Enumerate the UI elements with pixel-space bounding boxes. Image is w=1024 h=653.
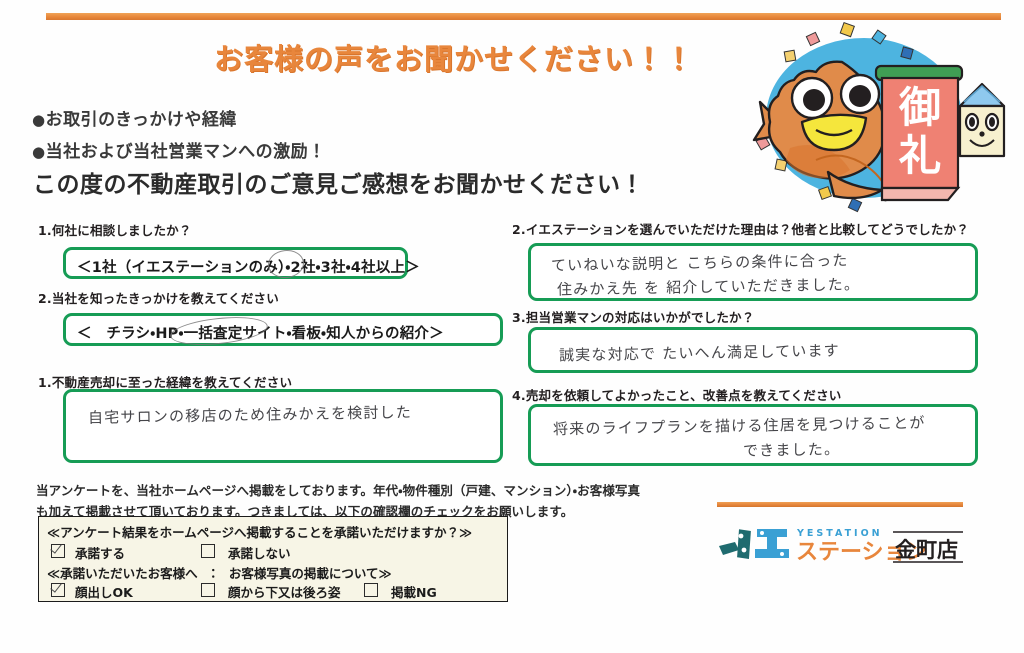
- consent-label-kaodashi-ok[interactable]: 顔出しOK: [75, 582, 133, 601]
- svg-text:礼: 礼: [898, 131, 941, 180]
- left-q2-options-box[interactable]: ＜ チラシ・HP・一括査定サイト・看板・知人からの紹介＞: [63, 313, 503, 346]
- consent-label-kao-kara-shita[interactable]: 顔から下又は後ろ姿: [228, 582, 341, 601]
- left-q1-options-box[interactable]: ＜1社（イエステーションのみ）・2社・3社・4社以上＞: [63, 247, 408, 279]
- list-item: ●当社および当社営業マンへの激励！: [32, 136, 326, 168]
- consent-heading-1: ≪アンケート結果をホームページへ掲載することを承諾いただけますか？≫: [47, 522, 472, 541]
- consent-checkbox-kaodashi-ok[interactable]: [51, 583, 65, 597]
- consent-checkbox-kao-kara-shita[interactable]: [201, 583, 215, 597]
- left-q2-label: 2.当社を知ったきっかけを教えてください: [38, 288, 279, 307]
- bullet-text: 当社および当社営業マンへの激励！: [46, 142, 326, 162]
- logo-romaji: YESTATION: [796, 528, 883, 539]
- bullet-dot-icon: ●: [32, 111, 46, 129]
- sea-bream-mascot-icon: 御 礼: [724, 18, 1010, 218]
- bullet-dot-icon: ●: [32, 143, 46, 161]
- right-q2-label: 3.担当営業マンの対応はいかがでしたか？: [512, 307, 754, 326]
- yestation-logo: YESTATION ステーション 金町店: [717, 524, 967, 566]
- sub-headline: この度の不動産取引のご意見ご感想をお聞かせください！: [33, 165, 644, 199]
- consent-label-shoudaku-suru[interactable]: 承諾する: [75, 543, 125, 562]
- right-q1-answer-line: 住みかえ先 を 紹介していただきました。: [557, 271, 861, 303]
- bullet-text: お取引のきっかけや経緯: [46, 110, 237, 130]
- right-q3-answer-line: 将来のライフプランを描ける住居を見つけることが: [553, 410, 926, 443]
- logo-orange-rule: [717, 502, 963, 507]
- survey-sheet: お客様の声をお聞かせください！！ ●お取引のきっかけや経緯 ●当社および当社営業…: [0, 0, 1024, 653]
- right-q1-label: 2.イエステーションを選んでいただけた理由は？他者と比較してどうでしたか？: [512, 219, 969, 238]
- svg-text:御: 御: [898, 83, 941, 132]
- left-q3-answer-line: 自宅サロンの移店のため住みかえを検討した: [88, 399, 412, 431]
- right-q1-answer-box[interactable]: ていねいな説明と こちらの条件に合った 住みかえ先 を 紹介していただきました。: [528, 243, 978, 301]
- consent-box: ≪アンケート結果をホームページへ掲載することを承諾いただけますか？≫ 承諾する …: [38, 516, 508, 602]
- consent-heading-2: ≪承諾いただいたお客様へ ： お客様写真の掲載について≫: [47, 563, 392, 582]
- right-q3-label: 4.売却を依頼してよかったこと、改善点を教えてください: [512, 385, 841, 404]
- consent-checkbox-shoudaku-shinai[interactable]: [201, 544, 215, 558]
- right-q2-answer-line: 誠実な対応で たいへん満足しています: [559, 338, 840, 369]
- consent-checkbox-shoudaku-suru[interactable]: [51, 544, 65, 558]
- left-q2-options-text: ＜ チラシ・HP・一括査定サイト・看板・知人からの紹介＞: [77, 322, 444, 343]
- right-q3-answer-box[interactable]: 将来のライフプランを描ける住居を見つけることが できました。: [528, 404, 978, 466]
- right-q3-answer-line: できました。: [743, 436, 841, 464]
- logo-branch: 金町店: [895, 538, 958, 562]
- consent-label-keisai-ng[interactable]: 掲載NG: [391, 582, 437, 601]
- left-q3-answer-box[interactable]: 自宅サロンの移店のため住みかえを検討した: [63, 389, 503, 463]
- left-q1-options-text: ＜1社（イエステーションのみ）・2社・3社・4社以上＞: [77, 256, 420, 277]
- bullet-list: ●お取引のきっかけや経緯 ●当社および当社営業マンへの激励！: [32, 104, 326, 169]
- consent-note-line: 当アンケートを、当社ホームページへ掲載をしております。年代・物件種別（戸建、マン…: [36, 481, 726, 502]
- page-title: お客様の声をお聞かせください！！: [214, 36, 734, 78]
- consent-label-shoudaku-shinai[interactable]: 承諾しない: [228, 543, 291, 562]
- consent-checkbox-keisai-ng[interactable]: [364, 583, 378, 597]
- list-item: ●お取引のきっかけや経緯: [32, 104, 326, 136]
- right-q2-answer-box[interactable]: 誠実な対応で たいへん満足しています: [528, 327, 978, 373]
- left-q1-label: 1.何社に相談しましたか？: [38, 220, 192, 239]
